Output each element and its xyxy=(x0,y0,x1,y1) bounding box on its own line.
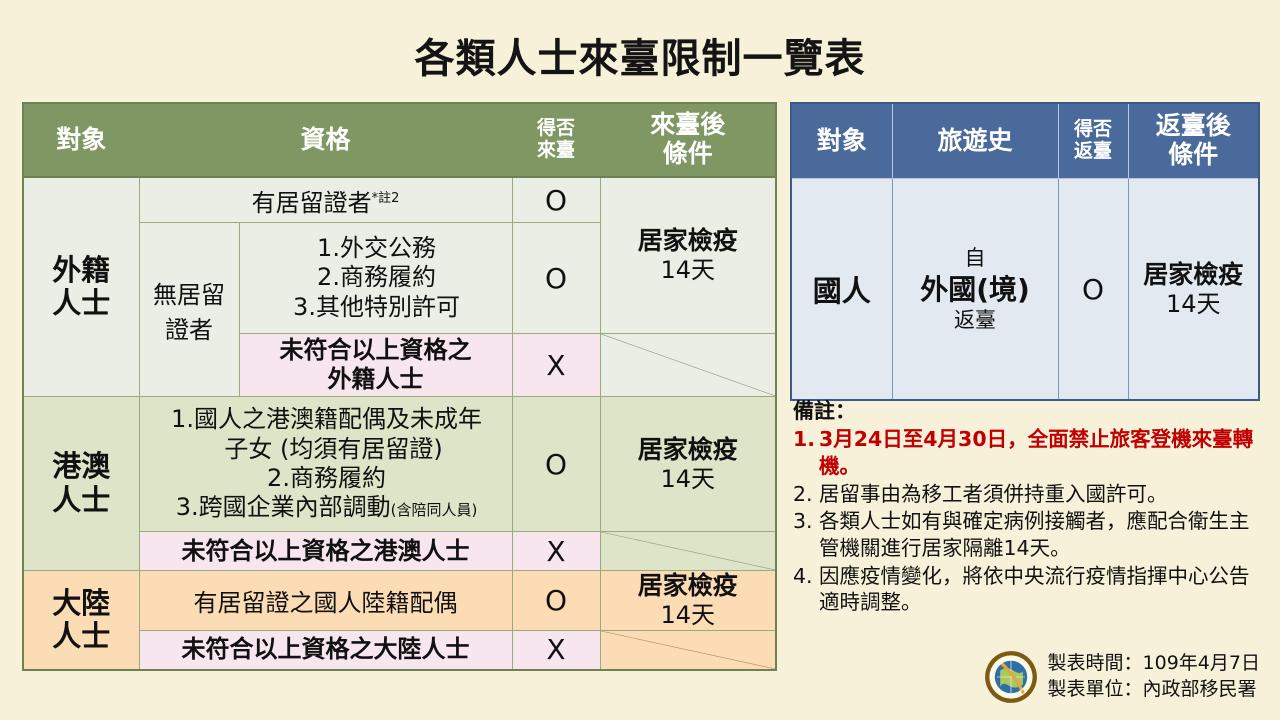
condition-mainland-allowed: 居家檢疫 14天 xyxy=(600,571,776,631)
qualification-item-note: (含陪同人員) xyxy=(391,501,478,519)
header-may-enter-line2: 來臺 xyxy=(513,140,600,162)
object-hkmacau-line1: 港澳 xyxy=(24,450,139,483)
travel-history-line3: 返臺 xyxy=(894,307,1057,333)
immigration-agency-logo-icon xyxy=(984,650,1038,704)
object-hkmacau: 港澳 人士 xyxy=(23,397,139,571)
object-mainland-line1: 大陸 xyxy=(24,587,139,620)
created-time: 製表時間：109年4月7日 xyxy=(1048,651,1260,677)
qualification-item-text: 子女 (均須有居留證) xyxy=(224,435,442,463)
list-item: 1. 3月24日至4月30日，全面禁止旅客登機來臺轉機。 xyxy=(793,426,1263,479)
table-row: 國人 自 外國(境) 返臺 O 居家檢疫 14天 xyxy=(791,179,1259,401)
return-restrictions-table: 對象 旅遊史 得否 返臺 返臺後 條件 國人 自 外國(境) 返臺 O 居家檢疫… xyxy=(790,102,1260,401)
diagonal-strike-icon xyxy=(601,334,776,396)
header-after-entry-line1: 來臺後 xyxy=(601,111,776,140)
table-row: 港澳 人士 1.國人之港澳籍配偶及未成年 子女 (均須有居留證) 2.商務履約 … xyxy=(23,397,776,532)
note-text: 居留事由為移工者須併持重入國許可。 xyxy=(819,481,1263,508)
notes-list: 1. 3月24日至4月30日，全面禁止旅客登機來臺轉機。 2. 居留事由為移工者… xyxy=(793,426,1263,615)
condition-mainland-line1: 居家檢疫 xyxy=(601,571,776,601)
may-enter-mark-has-arc: O xyxy=(512,177,600,223)
footer-meta: 製表時間：109年4月7日 製表單位：內政部移民署 xyxy=(1048,651,1260,702)
qualification-item: 3.其他特別許可 xyxy=(250,293,504,322)
condition-na-hkmacau xyxy=(600,532,776,571)
header-after-return-line1: 返臺後 xyxy=(1130,112,1258,141)
object-hkmacau-line2: 人士 xyxy=(24,484,139,517)
object-mainland-line2: 人士 xyxy=(24,620,139,653)
header-may-return-line1: 得否 xyxy=(1060,119,1127,141)
qualification-no-arc-list: 1.外交公務 2.商務履約 3.其他特別許可 xyxy=(239,223,512,334)
qualification-unqualified-foreign-line1: 未符合以上資格之 xyxy=(240,336,512,365)
qualification-unqualified-hkmacau: 未符合以上資格之港澳人士 xyxy=(139,532,512,571)
header-may-return: 得否 返臺 xyxy=(1058,103,1128,179)
footnote-marker: *註2 xyxy=(372,191,400,206)
entry-restrictions-table: 對象 資格 得否 來臺 來臺後 條件 外籍 人士 有居留證者*註2 O 居家檢疫 xyxy=(22,102,777,671)
diagonal-strike-icon xyxy=(601,532,776,570)
may-enter-mark-unqualified-hkmacau: X xyxy=(512,532,600,571)
travel-history-line2-text: 外國(境) xyxy=(920,273,1030,306)
sub-label-no-arc: 無居留 證者 xyxy=(139,223,239,397)
header-after-return: 返臺後 條件 xyxy=(1128,103,1259,179)
object-national: 國人 xyxy=(791,179,892,401)
list-item: 2. 居留事由為移工者須併持重入國許可。 xyxy=(793,481,1263,508)
may-return-mark: O xyxy=(1058,179,1128,401)
note-number: 4. xyxy=(793,563,819,616)
may-enter-mark-unqualified-foreign: X xyxy=(512,334,600,397)
qualification-hkmacau-list: 1.國人之港澳籍配偶及未成年 子女 (均須有居留證) 2.商務履約 3.跨國企業… xyxy=(139,397,512,532)
condition-return-line2: 14天 xyxy=(1130,290,1258,319)
travel-history-value: 自 外國(境) 返臺 xyxy=(892,179,1058,401)
condition-hkmacau-line1: 居家檢疫 xyxy=(601,435,776,465)
qualification-unqualified-mainland: 未符合以上資格之大陸人士 xyxy=(139,630,512,670)
footer: 製表時間：109年4月7日 製表單位：內政部移民署 xyxy=(984,650,1260,704)
condition-mainland-line2: 14天 xyxy=(601,601,776,630)
condition-foreign-allowed: 居家檢疫 14天 xyxy=(600,177,776,334)
header-after-entry: 來臺後 條件 xyxy=(600,103,776,177)
header-may-return-line2: 返臺 xyxy=(1060,141,1127,163)
table-row: 大陸 人士 有居留證之國人陸籍配偶 O 居家檢疫 14天 xyxy=(23,571,776,631)
may-enter-mark-mainland-allowed: O xyxy=(512,571,600,631)
header-may-enter-line1: 得否 xyxy=(513,118,600,140)
may-enter-mark-no-arc-allowed: O xyxy=(512,223,600,334)
header-may-enter: 得否 來臺 xyxy=(512,103,600,177)
qualification-item: 1.國人之港澳籍配偶及未成年 xyxy=(150,405,504,434)
qualification-item: 2.商務履約 xyxy=(150,464,504,493)
note-text: 各類人士如有與確定病例接觸者，應配合衛生主管機關進行居家隔離14天。 xyxy=(819,508,1263,561)
qualification-item: 1.外交公務 xyxy=(250,234,504,263)
qualification-item: 3.跨國企業內部調動(含陪同人員) xyxy=(150,493,504,522)
object-foreign-line2: 人士 xyxy=(24,287,139,320)
may-enter-mark-hkmacau-allowed: O xyxy=(512,397,600,532)
diagonal-strike-icon xyxy=(601,631,776,669)
qualification-has-arc: 有居留證者*註2 xyxy=(139,177,512,223)
sub-label-no-arc-line1: 無居留 xyxy=(140,275,239,310)
qualification-item: 2.商務履約 xyxy=(250,263,504,292)
may-enter-mark-unqualified-mainland: X xyxy=(512,630,600,670)
qualification-mainland-spouse: 有居留證之國人陸籍配偶 xyxy=(139,571,512,631)
header-object: 對象 xyxy=(23,103,139,177)
qualification-unqualified-foreign-line2: 外籍人士 xyxy=(240,365,512,394)
condition-hkmacau-allowed: 居家檢疫 14天 xyxy=(600,397,776,532)
object-mainland: 大陸 人士 xyxy=(23,571,139,670)
table-header-row: 對象 旅遊史 得否 返臺 返臺後 條件 xyxy=(791,103,1259,179)
condition-foreign-line1: 居家檢疫 xyxy=(601,226,776,256)
header-object-right: 對象 xyxy=(791,103,892,179)
qualification-unqualified-foreign: 未符合以上資格之 外籍人士 xyxy=(239,334,512,397)
notes-title: 備註： xyxy=(793,398,1263,425)
condition-return-line1: 居家檢疫 xyxy=(1130,260,1258,290)
qualification-has-arc-text: 有居留證者 xyxy=(252,189,372,217)
note-number: 3. xyxy=(793,508,819,561)
created-unit: 製表單位：內政部移民署 xyxy=(1048,677,1260,703)
note-number: 1. xyxy=(793,426,819,479)
condition-return: 居家檢疫 14天 xyxy=(1128,179,1259,401)
table-row: 外籍 人士 有居留證者*註2 O 居家檢疫 14天 xyxy=(23,177,776,223)
condition-na-mainland xyxy=(600,630,776,670)
page-title: 各類人士來臺限制一覽表 xyxy=(0,26,1280,84)
object-foreign-line1: 外籍 xyxy=(24,254,139,287)
header-after-return-line2: 條件 xyxy=(1130,141,1258,170)
header-after-entry-line2: 條件 xyxy=(601,140,776,169)
list-item: 3. 各類人士如有與確定病例接觸者，應配合衛生主管機關進行居家隔離14天。 xyxy=(793,508,1263,561)
list-item: 4. 因應疫情變化，將依中央流行疫情指揮中心公告適時調整。 xyxy=(793,563,1263,616)
travel-history-line1: 自 xyxy=(894,245,1057,271)
object-foreign: 外籍 人士 xyxy=(23,177,139,397)
note-text: 因應疫情變化，將依中央流行疫情指揮中心公告適時調整。 xyxy=(819,563,1263,616)
condition-hkmacau-line2: 14天 xyxy=(601,465,776,494)
sub-label-no-arc-line2: 證者 xyxy=(140,310,239,345)
travel-history-line2: 外國(境) xyxy=(894,272,1057,307)
notes-section: 備註： 1. 3月24日至4月30日，全面禁止旅客登機來臺轉機。 2. 居留事由… xyxy=(793,398,1263,617)
condition-foreign-line2: 14天 xyxy=(601,256,776,285)
note-number: 2. xyxy=(793,481,819,508)
qualification-item-text: 3.跨國企業內部調動 xyxy=(176,493,391,521)
condition-na-foreign xyxy=(600,334,776,397)
qualification-item: 子女 (均須有居留證) xyxy=(150,435,504,464)
table-header-row: 對象 資格 得否 來臺 來臺後 條件 xyxy=(23,103,776,177)
note-text: 3月24日至4月30日，全面禁止旅客登機來臺轉機。 xyxy=(819,426,1263,479)
header-qualification: 資格 xyxy=(139,103,512,177)
header-travel-history: 旅遊史 xyxy=(892,103,1058,179)
